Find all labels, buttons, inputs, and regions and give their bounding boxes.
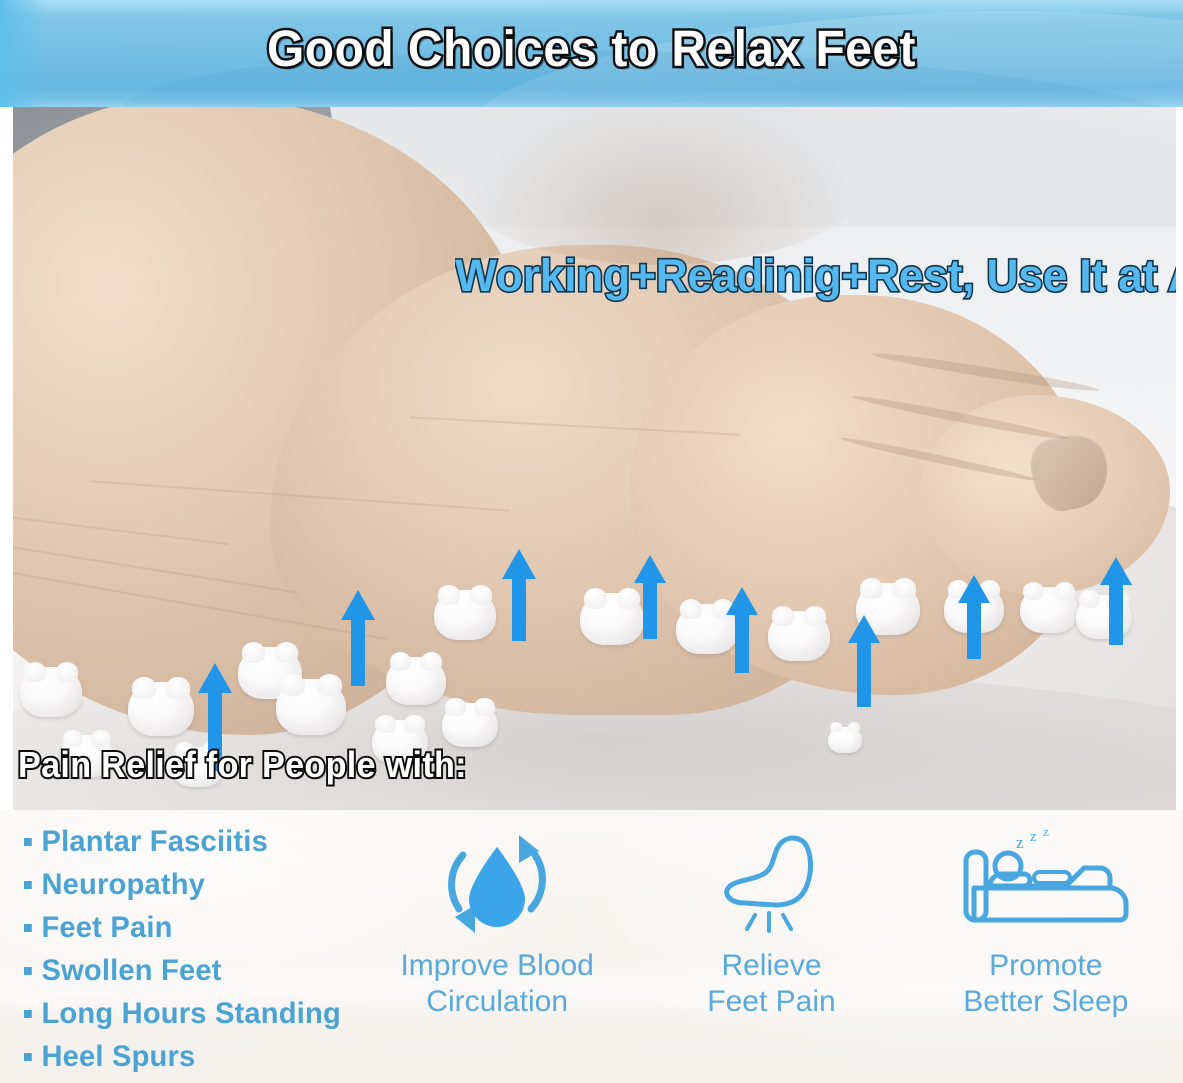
- benefit-caption-line2: Feet Pain: [641, 984, 901, 1020]
- benefit-caption-line1: Promote: [916, 948, 1176, 984]
- bullet-square-icon: [24, 1010, 32, 1018]
- svg-text:Working+Readinig+Rest, Use It: Working+Readinig+Rest, Use It at Any Tim…: [455, 252, 1183, 301]
- photo-left-margin: [0, 107, 13, 810]
- pressure-arrow: [1100, 557, 1132, 645]
- sleeping-in-bed-icon: z z z: [916, 824, 1176, 944]
- benefit-item-circulation: Improve Blood Circulation: [367, 824, 627, 1020]
- list-item-label: Plantar Fasciitis: [41, 820, 267, 863]
- water-drop-circulation-icon: [367, 824, 627, 944]
- svg-text:z: z: [1016, 833, 1024, 852]
- photo-right-margin: [1176, 107, 1183, 810]
- benefits-panel: Plantar Fasciitis Neuropathy Feet Pain S…: [0, 810, 1183, 1083]
- list-item: Long Hours Standing: [24, 992, 341, 1035]
- product-infographic: Good Choices to Relax Feet: [0, 0, 1183, 1083]
- header-banner: Good Choices to Relax Feet: [0, 0, 1183, 107]
- massage-nub: [276, 679, 346, 735]
- condition-list: Plantar Fasciitis Neuropathy Feet Pain S…: [24, 820, 351, 1078]
- pressure-arrow: [726, 587, 758, 673]
- list-item-label: Feet Pain: [41, 906, 172, 949]
- pain-relief-headline: Pain Relief for People with:: [18, 744, 467, 786]
- benefit-caption-line1: Relieve: [641, 948, 901, 984]
- pressure-arrow: [341, 590, 375, 686]
- product-photo: Working+Readinig+Rest, Use It at Any Tim…: [0, 107, 1183, 810]
- benefit-icons-row: Improve Blood Circulation Relieve Feet: [360, 824, 1183, 1079]
- bullet-square-icon: [24, 1053, 32, 1061]
- list-item: Neuropathy: [24, 863, 341, 906]
- foot-pain-relief-icon: [641, 824, 901, 944]
- pressure-arrow: [848, 615, 880, 707]
- bullet-square-icon: [24, 924, 32, 932]
- massage-nub: [434, 590, 496, 640]
- benefit-item-sleep: z z z Promote Better Sleep: [916, 824, 1176, 1020]
- massage-nub: [386, 657, 446, 705]
- massage-nub: [128, 682, 194, 736]
- benefit-caption-line2: Circulation: [367, 984, 627, 1020]
- benefit-caption-line2: Better Sleep: [916, 984, 1176, 1020]
- page-title: Good Choices to Relax Feet: [35, 19, 1147, 78]
- bullet-square-icon: [24, 838, 32, 846]
- benefit-caption: Improve Blood Circulation: [367, 948, 627, 1020]
- header-top-strip: [0, 0, 1183, 13]
- list-item-label: Swollen Feet: [41, 949, 221, 992]
- benefit-caption: Relieve Feet Pain: [641, 948, 901, 1020]
- benefit-item-feet-pain: Relieve Feet Pain: [641, 824, 901, 1020]
- svg-text:z: z: [1030, 829, 1037, 845]
- bullet-square-icon: [24, 881, 32, 889]
- massage-nub: [442, 703, 498, 747]
- list-item-label: Neuropathy: [41, 863, 205, 906]
- massage-nub: [1020, 587, 1078, 633]
- pressure-arrow: [502, 549, 536, 641]
- photo-subtitle: Working+Readinig+Rest, Use It at Any Tim…: [455, 249, 1183, 305]
- list-item: Heel Spurs: [24, 1035, 341, 1078]
- list-item-label: Long Hours Standing: [41, 992, 341, 1035]
- pressure-arrow: [634, 555, 666, 639]
- bullet-square-icon: [24, 967, 32, 975]
- benefit-caption: Promote Better Sleep: [916, 948, 1176, 1020]
- pressure-arrow: [958, 575, 990, 659]
- massage-nub: [768, 611, 830, 661]
- list-item: Swollen Feet: [24, 949, 341, 992]
- list-item: Feet Pain: [24, 906, 341, 949]
- massage-nub: [20, 667, 82, 717]
- list-item: Plantar Fasciitis: [24, 820, 341, 863]
- svg-text:z: z: [1043, 828, 1049, 839]
- benefit-caption-line1: Improve Blood: [367, 948, 627, 984]
- massage-nub: [828, 727, 862, 753]
- ankle-shadow: [450, 107, 870, 265]
- list-item-label: Heel Spurs: [41, 1035, 195, 1078]
